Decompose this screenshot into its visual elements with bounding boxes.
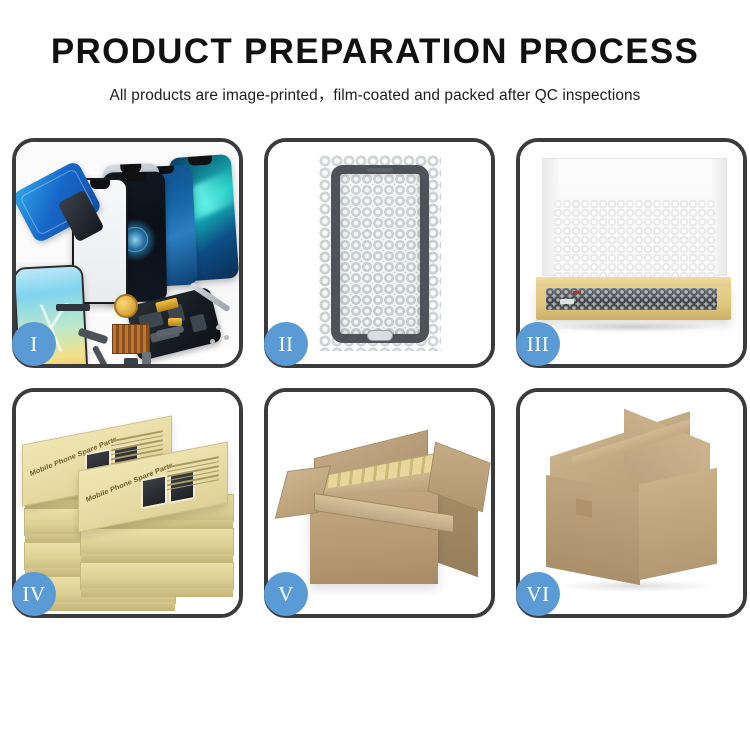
- step-panel-6[interactable]: VI: [516, 388, 747, 618]
- chip-part-3: [142, 352, 151, 364]
- tape-seal-2: [578, 559, 592, 576]
- header: PRODUCT PREPARATION PROCESS All products…: [0, 0, 750, 105]
- kraft-box-layer-6: [80, 528, 234, 556]
- earpiece-slot: [367, 168, 393, 172]
- tape-seal-1: [576, 498, 592, 517]
- copper-grid-part: [112, 324, 150, 354]
- step-badge-6: VI: [516, 572, 560, 616]
- steps-grid: 5.08: [12, 138, 738, 618]
- sealed-carton-right-face: [639, 468, 717, 581]
- step-badge-2: II: [264, 322, 308, 366]
- packed-product: [546, 288, 717, 310]
- step-panel-4[interactable]: Mobile Phone Spare Parts Mobile Phone Sp…: [12, 388, 243, 618]
- speaker-part: [56, 304, 90, 311]
- screw-1: [216, 325, 221, 330]
- step-panel-5[interactable]: V: [264, 388, 495, 618]
- step-badge-1: I: [12, 322, 56, 366]
- step-panel-2[interactable]: II: [264, 138, 495, 368]
- screw-2: [224, 335, 229, 340]
- step-badge-3: III: [516, 322, 560, 366]
- gold-connector-2: [168, 318, 182, 326]
- gold-coil-part: [114, 294, 138, 318]
- step-badge-4: IV: [12, 572, 56, 616]
- sealed-carton-left-face: [546, 475, 640, 585]
- screw-3: [210, 339, 215, 344]
- kraft-box-layer-7: [80, 562, 234, 590]
- box-shadow: [550, 322, 717, 332]
- home-button-cutout: [367, 330, 393, 341]
- product-preparation-infographic: PRODUCT PREPARATION PROCESS All products…: [0, 0, 750, 750]
- bubble-film: [319, 155, 441, 351]
- page-title: PRODUCT PREPARATION PROCESS: [0, 34, 750, 69]
- page-subtitle: All products are image-printed，film-coat…: [0, 83, 750, 105]
- box-stack: Mobile Phone Spare Parts Mobile Phone Sp…: [22, 416, 234, 602]
- foam-padding: [554, 200, 715, 278]
- phone-screen-glass: [331, 165, 429, 343]
- step-badge-5: V: [264, 572, 308, 616]
- chip-part-1: [124, 358, 138, 364]
- step-panel-3[interactable]: III: [516, 138, 747, 368]
- step-panel-1[interactable]: 5.08: [12, 138, 243, 368]
